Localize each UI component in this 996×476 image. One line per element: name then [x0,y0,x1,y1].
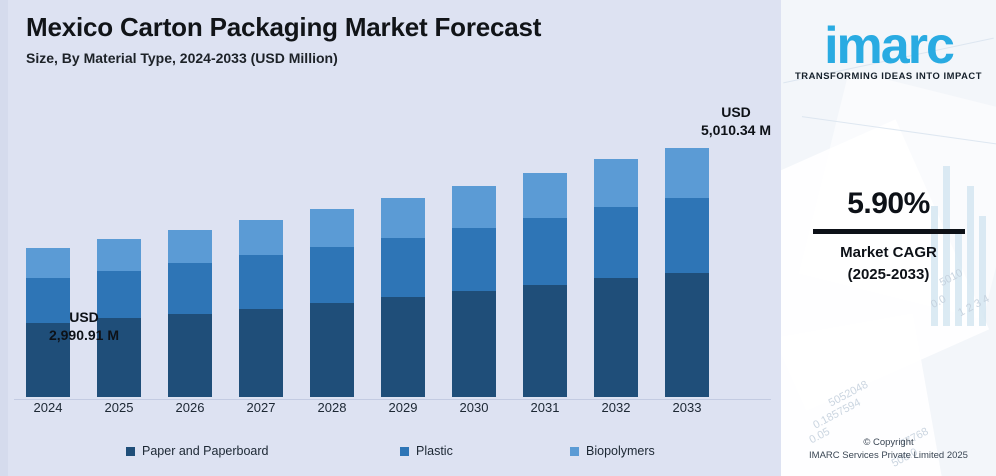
x-tick-2031: 2031 [510,400,580,415]
callout-last-value: USD 5,010.34 M [680,103,792,139]
callout-last-line1: USD [680,103,792,121]
imarc-logo: imarc TRANSFORMING IDEAS INTO IMPACT [781,18,996,81]
chart-legend: Paper and PaperboardPlasticBiopolymers [0,444,781,468]
imarc-logo-text: imarc [824,18,953,74]
bar-segment-plastic-2030[interactable] [452,228,496,291]
x-tick-2027: 2027 [226,400,296,415]
bar-segment-plastic-2028[interactable] [310,247,354,303]
chart-screenshot: Mexico Carton Packaging Market Forecast … [0,0,996,476]
bar-segment-biopolymers-2031[interactable] [523,173,567,218]
bar-group-2027[interactable] [239,220,283,397]
page-subtitle: Size, By Material Type, 2024-2033 (USD M… [26,48,541,68]
bar-segment-paper-and-paperboard-2026[interactable] [168,314,212,397]
cagr-block: 5.90% Market CAGR (2025-2033) [781,186,996,286]
bar-segment-plastic-2027[interactable] [239,255,283,308]
x-axis-tick-labels: 2024202520262027202820292030203120322033 [0,400,781,426]
bar-group-2028[interactable] [310,209,354,397]
copyright-notice: © Copyright IMARC Services Private Limit… [781,436,996,462]
bar-segment-plastic-2033[interactable] [665,198,709,273]
bar-segment-biopolymers-2029[interactable] [381,198,425,238]
bar-segment-paper-and-paperboard-2028[interactable] [310,303,354,397]
bar-group-2030[interactable] [452,186,496,397]
copyright-line1: © Copyright [781,436,996,449]
bar-segment-biopolymers-2027[interactable] [239,220,283,255]
callout-first-value: USD 2,990.91 M [4,308,164,344]
bar-segment-biopolymers-2033[interactable] [665,148,709,198]
bar-segment-paper-and-paperboard-2029[interactable] [381,297,425,397]
legend-swatch-icon [400,447,409,456]
legend-label: Biopolymers [586,444,655,458]
callout-last-line2: 5,010.34 M [680,121,792,139]
legend-label: Paper and Paperboard [142,444,268,458]
callout-first-line1: USD [4,308,164,326]
copyright-line2: IMARC Services Private Limited 2025 [781,449,996,462]
cagr-value: 5.90% [781,186,996,222]
bar-group-2033[interactable] [665,148,709,397]
x-tick-2024: 2024 [13,400,83,415]
x-tick-2030: 2030 [439,400,509,415]
bar-segment-biopolymers-2025[interactable] [97,239,141,271]
x-tick-2029: 2029 [368,400,438,415]
legend-item-paper-and-paperboard[interactable]: Paper and Paperboard [126,444,268,458]
legend-label: Plastic [416,444,453,458]
bar-segment-paper-and-paperboard-2027[interactable] [239,309,283,397]
bar-group-2026[interactable] [168,230,212,397]
bar-segment-paper-and-paperboard-2031[interactable] [523,285,567,397]
bar-segment-biopolymers-2032[interactable] [594,159,638,207]
x-tick-2025: 2025 [84,400,154,415]
plot-area [0,100,781,400]
bar-group-2029[interactable] [381,198,425,397]
bar-segment-biopolymers-2028[interactable] [310,209,354,247]
x-tick-2028: 2028 [297,400,367,415]
chart-panel: Mexico Carton Packaging Market Forecast … [0,0,781,476]
bar-segment-paper-and-paperboard-2033[interactable] [665,273,709,397]
x-tick-2032: 2032 [581,400,651,415]
callout-first-line2: 2,990.91 M [4,326,164,344]
legend-swatch-icon [570,447,579,456]
bar-segment-biopolymers-2024[interactable] [26,248,70,278]
cagr-label: Market CAGR [781,242,996,264]
bar-segment-plastic-2031[interactable] [523,218,567,285]
bar-segment-paper-and-paperboard-2032[interactable] [594,278,638,397]
bar-segment-biopolymers-2030[interactable] [452,186,496,228]
cagr-period: (2025-2033) [781,264,996,286]
bar-segment-plastic-2032[interactable] [594,207,638,278]
bar-group-2032[interactable] [594,159,638,397]
legend-swatch-icon [126,447,135,456]
bar-segment-plastic-2026[interactable] [168,263,212,313]
legend-item-plastic[interactable]: Plastic [400,444,453,458]
bar-series-container [0,100,781,397]
page-title: Mexico Carton Packaging Market Forecast [26,10,541,44]
bar-segment-plastic-2029[interactable] [381,238,425,298]
bar-segment-biopolymers-2026[interactable] [168,230,212,263]
cagr-divider [813,229,965,234]
x-tick-2033: 2033 [652,400,722,415]
bar-segment-paper-and-paperboard-2030[interactable] [452,291,496,397]
x-tick-2026: 2026 [155,400,225,415]
chart-header: Mexico Carton Packaging Market Forecast … [26,10,541,68]
bar-group-2031[interactable] [523,173,567,397]
legend-item-biopolymers[interactable]: Biopolymers [570,444,655,458]
brand-panel: 0.0 1 2 3 4 5010 0.1857594 0.05 77768 50… [781,0,996,476]
